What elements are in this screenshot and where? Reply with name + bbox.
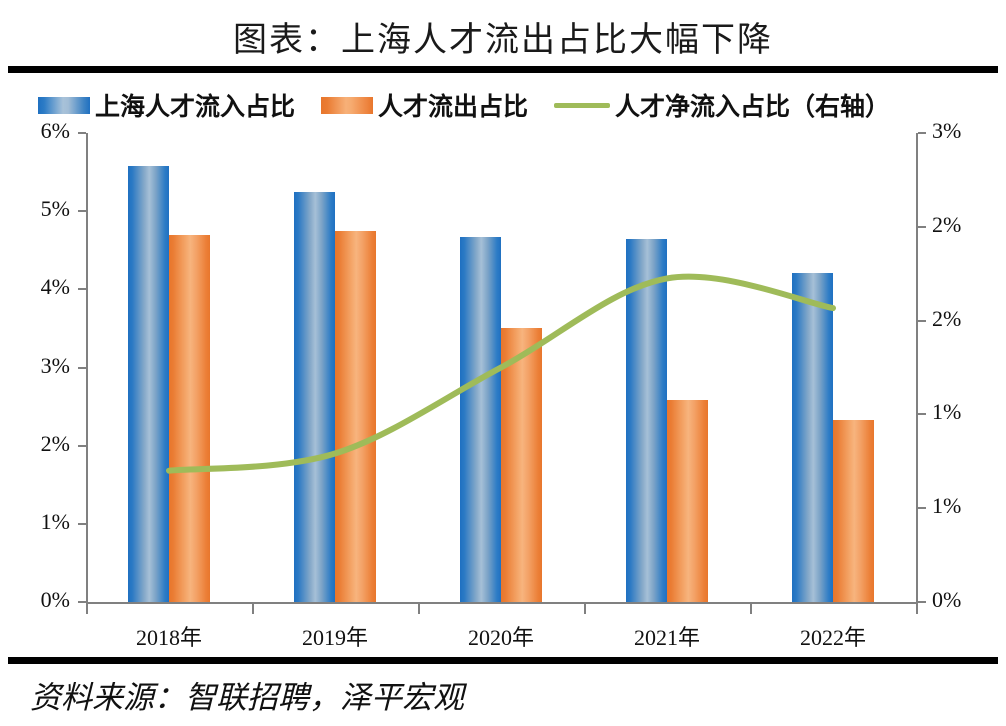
y-tick-right-4: [918, 226, 926, 228]
y-axis-label-left-5: 5%: [12, 196, 70, 222]
x-tick-2: [418, 604, 420, 614]
source-note: 资料来源：智联招聘，泽平宏观: [30, 672, 464, 717]
y-tick-left-6: [78, 132, 86, 134]
x-axis-label-4: 2022年: [773, 620, 893, 652]
y-tick-right-5: [918, 132, 926, 134]
y-axis-label-left-4: 4%: [12, 274, 70, 300]
bar-inflow-2019年[interactable]: [294, 192, 335, 602]
footer-divider: [8, 657, 998, 664]
y-tick-left-4: [78, 288, 86, 290]
y-tick-left-3: [78, 367, 86, 369]
y-axis-label-right-4: 2%: [932, 212, 990, 238]
bar-outflow-2018年[interactable]: [169, 235, 210, 602]
bar-outflow-2019年[interactable]: [335, 231, 376, 602]
chart-figure: 图表：上海人才流出占比大幅下降 上海人才流入占比 人才流出占比 人才净流入占比（…: [0, 0, 1006, 726]
x-tick-5: [916, 604, 918, 614]
y-axis-label-left-6: 6%: [12, 118, 70, 144]
bar-outflow-2022年[interactable]: [833, 420, 874, 602]
x-axis-label-1: 2019年: [275, 620, 395, 652]
y-axis-label-left-2: 2%: [12, 431, 70, 457]
x-axis: [86, 602, 918, 604]
y-axis-left: [86, 133, 88, 603]
y-tick-left-1: [78, 523, 86, 525]
y-tick-right-0: [918, 601, 926, 603]
y-axis-label-left-0: 0%: [12, 587, 70, 613]
y-axis-label-right-2: 1%: [932, 399, 990, 425]
y-axis-label-left-3: 3%: [12, 353, 70, 379]
y-axis-label-right-0: 0%: [932, 587, 990, 613]
y-axis-label-right-5: 3%: [932, 118, 990, 144]
x-axis-label-3: 2021年: [607, 620, 727, 652]
x-tick-4: [750, 604, 752, 614]
y-tick-left-0: [78, 601, 86, 603]
y-axis-right: [916, 133, 918, 603]
x-axis-label-0: 2018年: [109, 620, 229, 652]
y-axis-label-right-1: 1%: [932, 493, 990, 519]
y-tick-left-2: [78, 445, 86, 447]
bar-inflow-2021年[interactable]: [626, 239, 667, 602]
bar-inflow-2020年[interactable]: [460, 237, 501, 602]
bar-outflow-2020年[interactable]: [501, 328, 542, 602]
x-tick-0: [86, 604, 88, 614]
y-tick-right-1: [918, 507, 926, 509]
y-axis-label-left-1: 1%: [12, 509, 70, 535]
x-tick-3: [584, 604, 586, 614]
bar-outflow-2021年[interactable]: [667, 400, 708, 602]
y-tick-right-2: [918, 413, 926, 415]
y-tick-right-3: [918, 320, 926, 322]
plot-area: 0%1%2%3%4%5%6%0%1%1%2%2%3%2018年2019年2020…: [0, 0, 1006, 726]
y-tick-left-5: [78, 210, 86, 212]
x-tick-1: [252, 604, 254, 614]
bar-inflow-2022年[interactable]: [792, 273, 833, 602]
x-axis-label-2: 2020年: [441, 620, 561, 652]
bar-inflow-2018年[interactable]: [128, 166, 169, 602]
y-axis-label-right-3: 2%: [932, 306, 990, 332]
